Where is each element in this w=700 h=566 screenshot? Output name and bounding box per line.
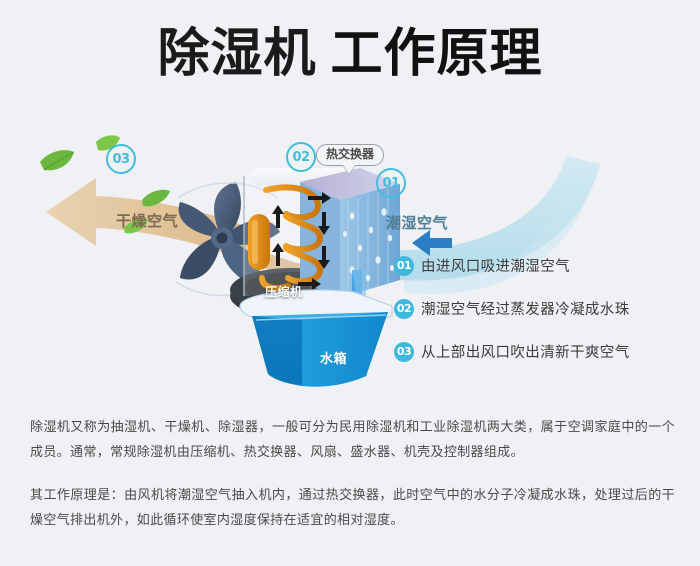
body-copy: 除湿机又称为抽湿机、干燥机、除湿器，一般可分为民用除湿机和工业除湿机两大类，属于… <box>30 415 675 551</box>
step-text-02: 潮湿空气经过蒸发器冷凝成水珠 <box>421 298 630 319</box>
water-tank <box>240 290 392 387</box>
page-title: 除湿机工作原理 <box>0 28 700 80</box>
paragraph-1: 除湿机又称为抽湿机、干燥机、除湿器，一般可分为民用除湿机和工业除湿机两大类，属于… <box>30 415 675 465</box>
step-text-03: 从上部出风口吹出清新干爽空气 <box>421 341 630 362</box>
step-text-01: 由进风口吸进潮湿空气 <box>421 255 570 276</box>
steps-list: 01 由进风口吸进潮湿空气 02 潮湿空气经过蒸发器冷凝成水珠 03 从上部出风… <box>394 255 694 384</box>
diagram-marker-01: 01 <box>376 168 406 198</box>
list-item: 01 由进风口吸进潮湿空气 <box>394 255 694 276</box>
title-part-2: 工作原理 <box>331 24 543 84</box>
compressor-body <box>248 214 270 270</box>
step-badge-03: 03 <box>394 342 414 362</box>
paragraph-2: 其工作原理是：由风机将潮湿空气抽入机内，通过热交换器，此时空气中的水分子冷凝成水… <box>30 483 675 533</box>
heat-exchanger-callout: 热交换器 <box>316 144 384 166</box>
step-badge-02: 02 <box>394 299 414 319</box>
diagram-marker-03: 03 <box>106 144 136 174</box>
step-badge-01: 01 <box>394 256 414 276</box>
page-root: 除湿机工作原理 <box>0 0 700 566</box>
list-item: 02 潮湿空气经过蒸发器冷凝成水珠 <box>394 298 694 319</box>
list-item: 03 从上部出风口吹出清新干爽空气 <box>394 341 694 362</box>
title-part-1: 除湿机 <box>157 24 316 84</box>
diagram-marker-02: 02 <box>286 142 316 172</box>
